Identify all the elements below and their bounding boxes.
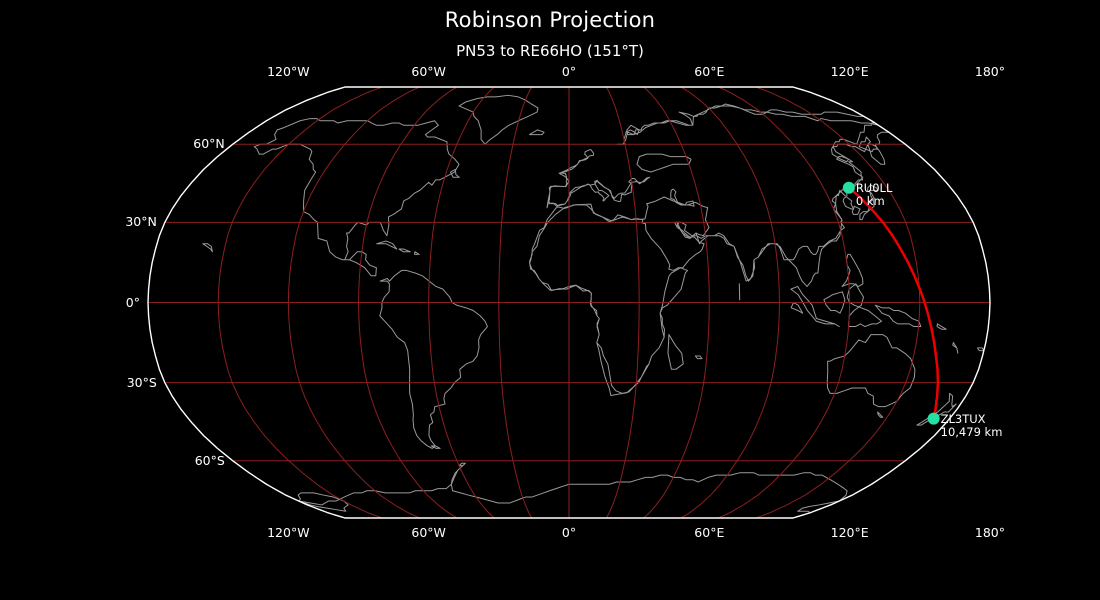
bot-tick: 60°W: [389, 525, 469, 540]
top-tick: 60°W: [389, 64, 469, 79]
bot-tick: 0°: [529, 525, 609, 540]
top-tick: 180°: [950, 64, 1030, 79]
lat-tick: 0°: [60, 295, 140, 310]
top-tick: 0°: [529, 64, 609, 79]
station-a-label: RU0LL 0 km: [856, 182, 893, 208]
station-a-callsign: RU0LL: [856, 182, 893, 195]
coastlines-layer: [203, 95, 984, 518]
top-tick: 60°E: [669, 64, 749, 79]
lat-tick: 60°S: [145, 453, 225, 468]
station-a-distance: 0 km: [856, 195, 893, 208]
station-marker-b[interactable]: [928, 413, 940, 425]
map-figure: Robinson Projection PN53 to RE66HO (151°…: [0, 0, 1100, 600]
station-b-label: ZL3TUX 10,479 km: [941, 413, 1003, 439]
lat-tick: 60°N: [145, 136, 225, 151]
lat-tick: 30°N: [77, 214, 157, 229]
bot-tick: 120°W: [248, 525, 328, 540]
bot-tick: 180°: [950, 525, 1030, 540]
station-b-callsign: ZL3TUX: [941, 413, 1003, 426]
station-b-distance: 10,479 km: [941, 426, 1003, 439]
bot-tick: 60°E: [669, 525, 749, 540]
top-tick: 120°W: [248, 64, 328, 79]
robinson-map-canvas: [0, 0, 1100, 600]
bot-tick: 120°E: [810, 525, 890, 540]
top-tick: 120°E: [810, 64, 890, 79]
station-marker-a[interactable]: [843, 182, 855, 194]
lat-tick: 30°S: [77, 375, 157, 390]
